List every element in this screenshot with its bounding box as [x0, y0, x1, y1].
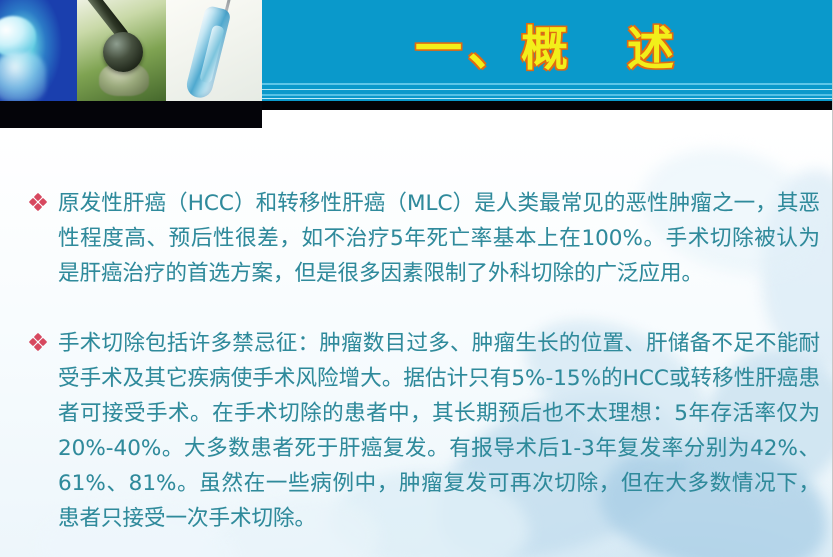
syringe-image: [166, 0, 262, 101]
slide-header: 一、概 述: [0, 0, 833, 130]
banner-rule: [262, 98, 833, 99]
stethoscope-image: [77, 0, 166, 101]
bullet-paragraph: 原发性肝癌（HCC）和转移性肝癌（MLC）是人类最常见的恶性肿瘤之一，其恶性程度…: [30, 186, 820, 291]
banner-rule: [262, 89, 833, 90]
header-photo-strip: [0, 0, 262, 101]
slide-title: 一、概 述: [262, 22, 833, 78]
presentation-slide: 一、概 述 原发性肝癌（HCC）和转移性肝癌（MLC）是人类最常见的恶性肿瘤之一…: [0, 0, 833, 557]
paragraph-text: 原发性肝癌（HCC）和转移性肝癌（MLC）是人类最常见的恶性肿瘤之一，其恶性程度…: [58, 186, 820, 291]
banner-rule: [262, 94, 833, 96]
bullet-paragraph: 手术切除包括许多禁忌征：肿瘤数目过多、肿瘤生长的位置、肝储备不足不能耐受手术及其…: [30, 326, 820, 536]
banner-rule: [262, 83, 833, 85]
diamond-bullet-icon: [30, 194, 50, 214]
paragraph-text: 手术切除包括许多禁忌征：肿瘤数目过多、肿瘤生长的位置、肝储备不足不能耐受手术及其…: [58, 326, 820, 536]
blue-medical-figure-image: [0, 0, 77, 101]
header-black-block: [0, 101, 262, 128]
diamond-bullet-icon: [30, 334, 50, 354]
stethoscope-bell-icon: [103, 32, 143, 72]
slide-body: 原发性肝癌（HCC）和转移性肝癌（MLC）是人类最常见的恶性肿瘤之一，其恶性程度…: [0, 130, 833, 557]
